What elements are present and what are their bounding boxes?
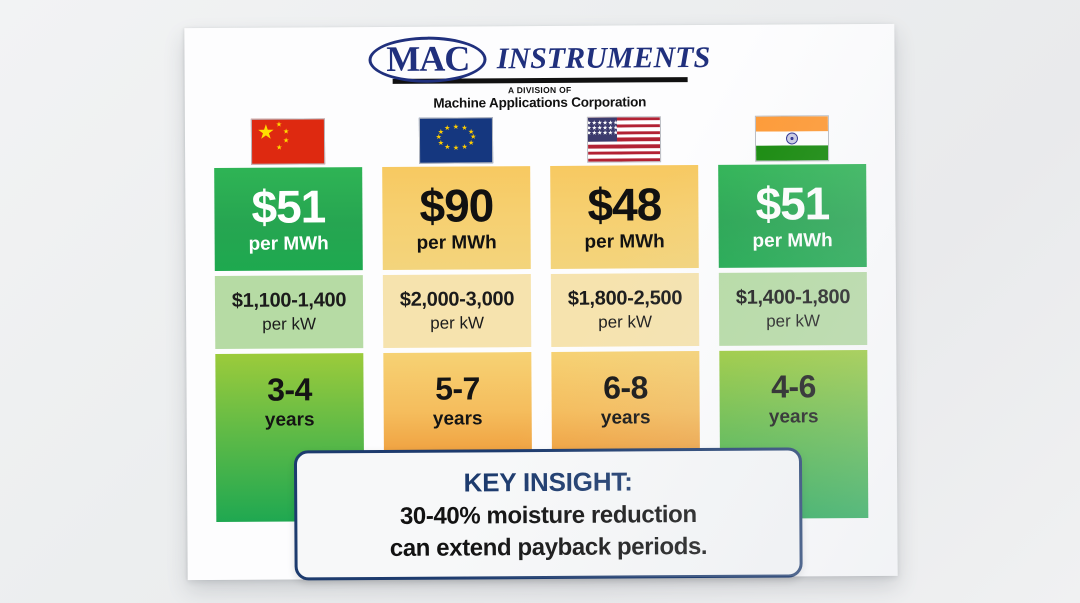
eu-star-12: ★ bbox=[444, 125, 450, 132]
price-unit-european-union: per MWh bbox=[416, 232, 496, 254]
china-star-2: ★ bbox=[283, 129, 289, 136]
capex-value-european-union: $2,000-3,000 bbox=[400, 288, 514, 312]
us-canton: ★★★★★★★★★★★★★★★★★★ bbox=[588, 118, 617, 142]
logo-mac-text: MAC bbox=[386, 40, 469, 77]
payback-card-united-states: 6-8 years bbox=[551, 351, 700, 450]
flag-slot-united-states: ★★★★★★★★★★★★★★★★★★ bbox=[550, 113, 698, 166]
logo-instruments-text: INSTRUMENTS bbox=[497, 43, 711, 74]
capex-unit-india: per kW bbox=[766, 311, 820, 331]
price-value-india: $51 bbox=[755, 180, 829, 226]
payback-value-united-states: 6-8 bbox=[603, 371, 648, 403]
logo-company-name: Machine Applications Corporation bbox=[185, 93, 895, 112]
payback-card-european-union: 5-7 years bbox=[383, 352, 532, 451]
capex-card-united-states: $1,800-2,500 per kW bbox=[551, 273, 699, 347]
price-card-china: $51 per MWh bbox=[214, 167, 363, 271]
capex-value-united-states: $1,800-2,500 bbox=[568, 287, 682, 311]
capex-card-india: $1,400-1,800 per kW bbox=[719, 272, 867, 346]
eu-star-2: ★ bbox=[461, 125, 467, 132]
price-value-european-union: $90 bbox=[419, 182, 493, 228]
china-star-large: ★ bbox=[257, 123, 275, 143]
flag-slot-india bbox=[718, 112, 866, 165]
logo-ellipse-icon: MAC bbox=[369, 36, 487, 83]
price-card-european-union: $90 per MWh bbox=[382, 166, 531, 270]
logo-wordmark: MAC INSTRUMENTS bbox=[369, 35, 711, 83]
china-star-1: ★ bbox=[276, 122, 282, 129]
capex-unit-european-union: per kW bbox=[430, 313, 484, 333]
payback-unit-china: years bbox=[265, 409, 315, 431]
payback-value-india: 4-6 bbox=[771, 370, 816, 402]
payback-unit-united-states: years bbox=[601, 407, 651, 429]
capex-value-india: $1,400-1,800 bbox=[736, 286, 850, 310]
ashoka-chakra-icon bbox=[786, 132, 798, 144]
capex-unit-china: per kW bbox=[262, 314, 316, 334]
flag-slot-china: ★ ★ ★ ★ ★ bbox=[214, 115, 362, 168]
key-insight-title: KEY INSIGHT: bbox=[463, 466, 632, 498]
brand-logo: MAC INSTRUMENTS A DIVISION OF Machine Ap… bbox=[184, 34, 894, 112]
capex-value-china: $1,100-1,400 bbox=[232, 289, 346, 313]
eu-star-circle: ★ ★ ★ ★ ★ ★ ★ ★ ★ ★ ★ ★ bbox=[420, 118, 492, 162]
key-insight-callout: KEY INSIGHT: 30-40% moisture reduction c… bbox=[294, 447, 803, 580]
eu-star-5: ★ bbox=[468, 140, 474, 147]
capex-card-china: $1,100-1,400 per kW bbox=[215, 275, 363, 349]
eu-star-7: ★ bbox=[453, 145, 459, 152]
key-insight-line-1: 30-40% moisture reduction bbox=[400, 501, 697, 531]
capex-unit-united-states: per kW bbox=[598, 312, 652, 332]
capex-card-european-union: $2,000-3,000 per kW bbox=[383, 274, 531, 348]
european-union-flag-icon: ★ ★ ★ ★ ★ ★ ★ ★ ★ ★ ★ ★ bbox=[419, 117, 493, 163]
price-unit-china: per MWh bbox=[248, 233, 328, 255]
china-flag-icon: ★ ★ ★ ★ ★ bbox=[251, 118, 325, 164]
eu-star-8: ★ bbox=[444, 144, 450, 151]
china-star-4: ★ bbox=[276, 145, 282, 152]
china-star-3: ★ bbox=[283, 138, 289, 145]
key-insight-line-2: can extend payback periods. bbox=[390, 532, 707, 562]
payback-unit-india: years bbox=[769, 406, 819, 428]
price-card-united-states: $48 per MWh bbox=[550, 165, 699, 269]
payback-value-european-union: 5-7 bbox=[435, 372, 480, 404]
price-value-united-states: $48 bbox=[587, 181, 661, 227]
eu-star-6: ★ bbox=[462, 144, 468, 151]
price-value-china: $51 bbox=[251, 183, 325, 229]
payback-value-china: 3-4 bbox=[267, 373, 312, 405]
infographic-paper: MAC INSTRUMENTS A DIVISION OF Machine Ap… bbox=[184, 24, 897, 580]
united-states-flag-icon: ★★★★★★★★★★★★★★★★★★ bbox=[587, 116, 661, 162]
price-unit-united-states: per MWh bbox=[584, 231, 664, 253]
flag-slot-european-union: ★ ★ ★ ★ ★ ★ ★ ★ ★ ★ ★ ★ bbox=[382, 114, 530, 167]
payback-unit-european-union: years bbox=[433, 408, 483, 430]
price-unit-india: per MWh bbox=[752, 230, 832, 252]
eu-star-1: ★ bbox=[453, 124, 459, 131]
price-card-india: $51 per MWh bbox=[718, 164, 867, 268]
eu-star-11: ★ bbox=[438, 129, 444, 136]
india-flag-icon bbox=[755, 115, 829, 161]
